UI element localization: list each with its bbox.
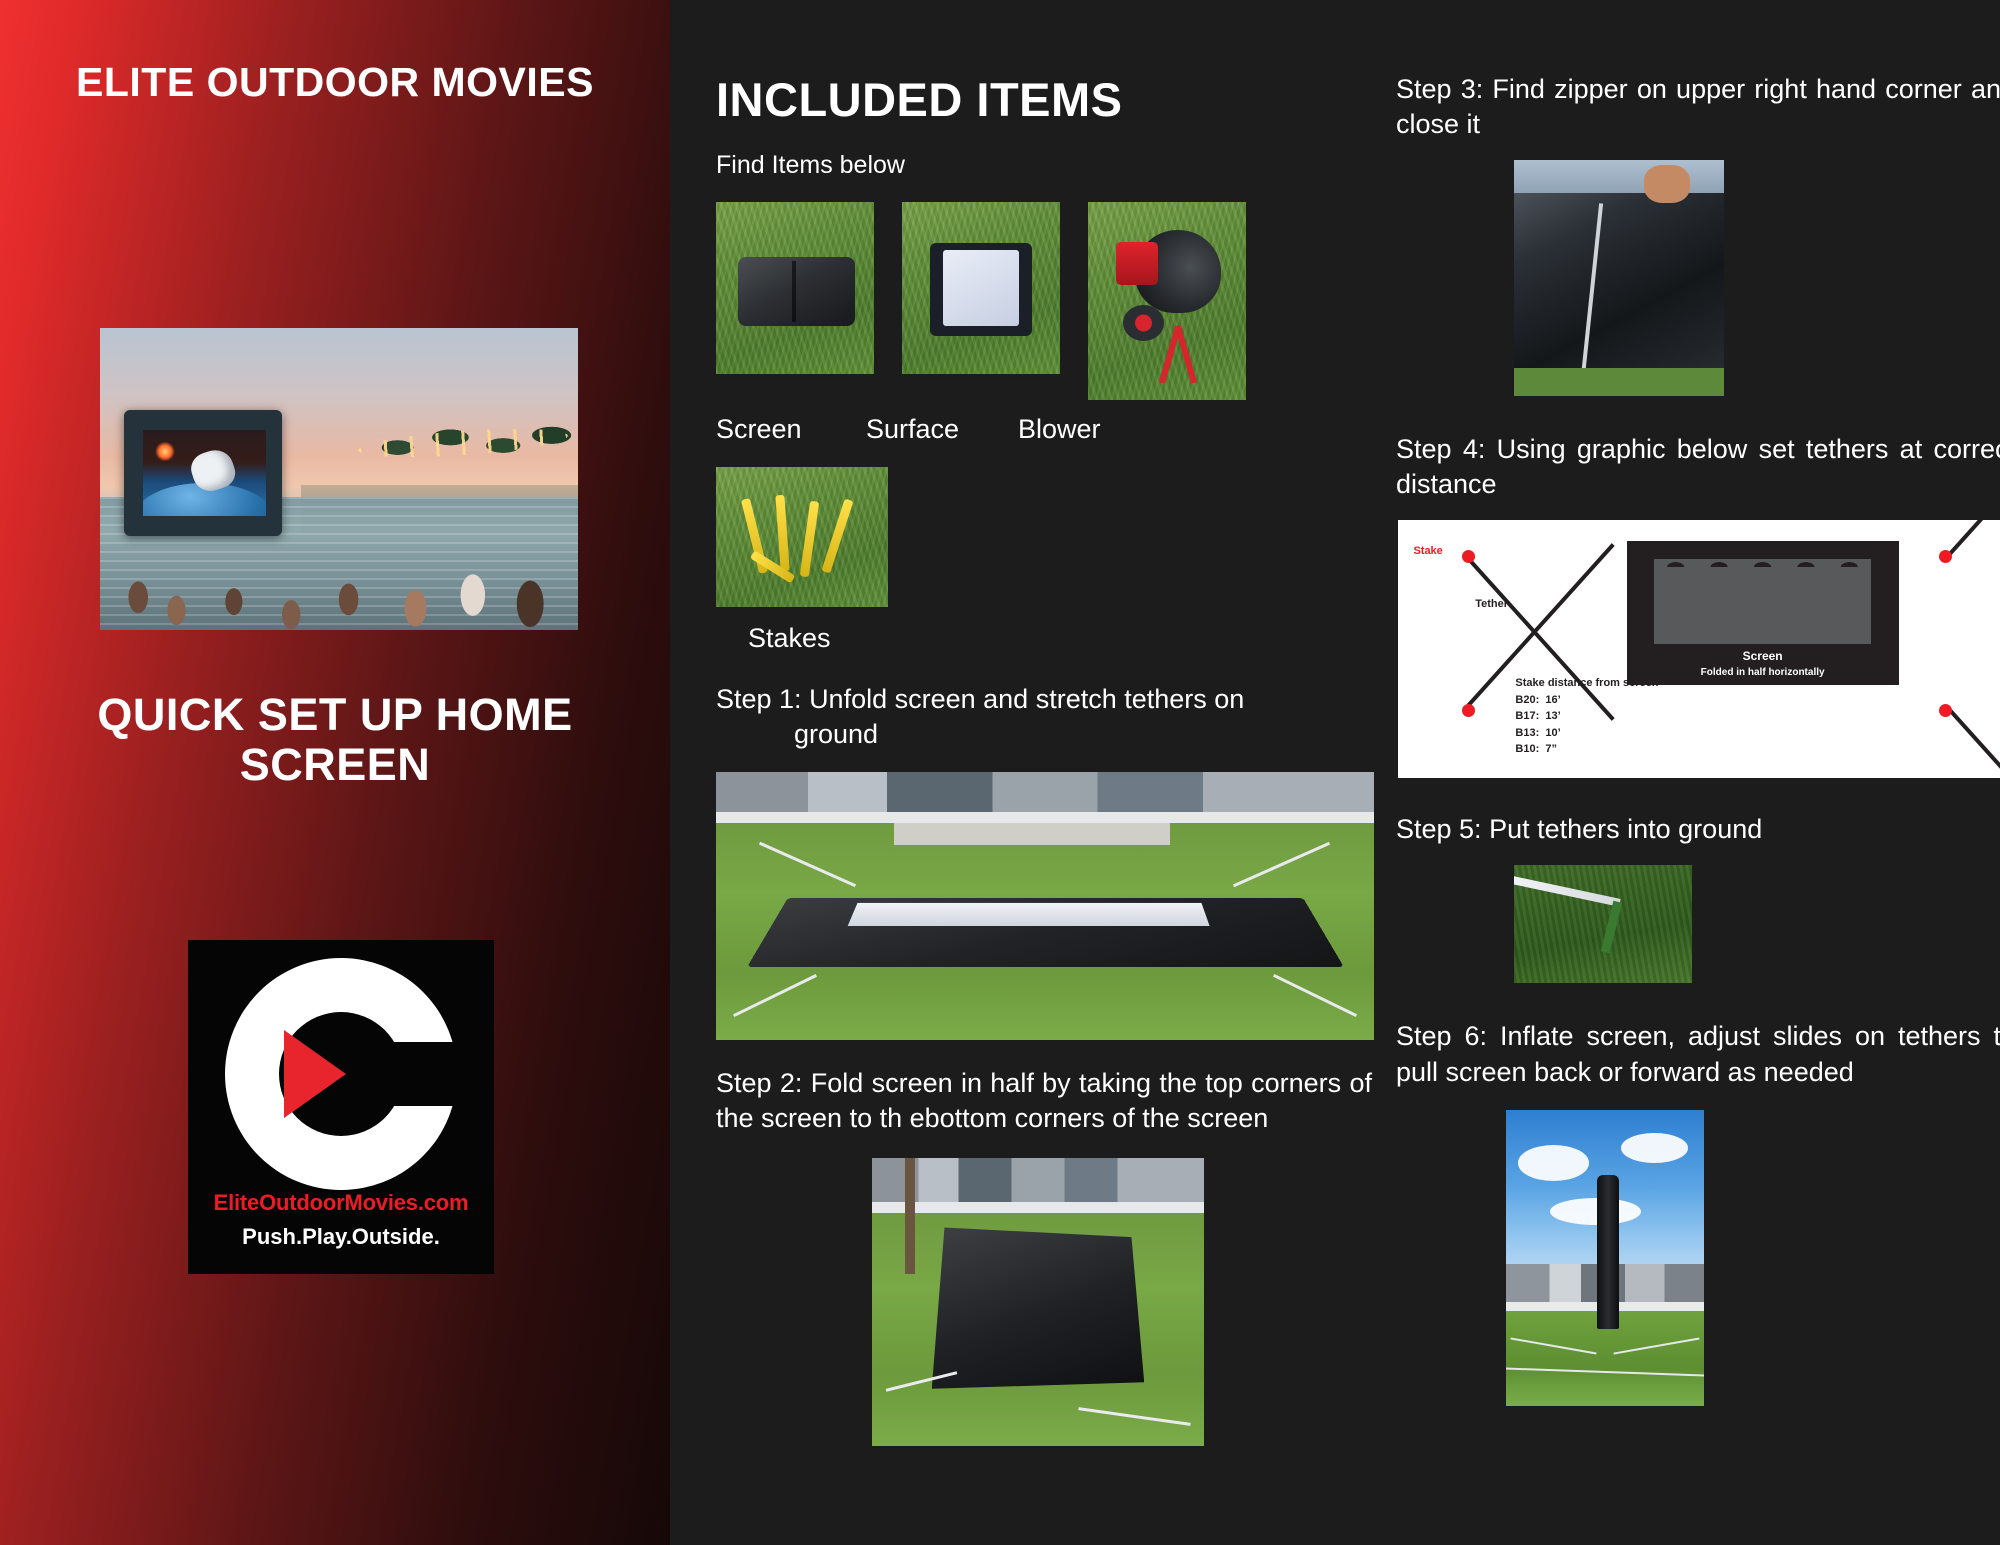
distance-value: 7” (1545, 743, 1557, 755)
brand-title: ELITE OUTDOOR MOVIES (0, 58, 670, 106)
company-logo: EliteOutdoorMovies.com Push.Play.Outside… (188, 940, 494, 1274)
tether-line (1506, 1368, 1704, 1377)
instructions-panel: INCLUDED ITEMS Find Items below (670, 0, 2000, 1545)
logo-tagline: Push.Play.Outside. (188, 1224, 494, 1250)
screen-fabric (1514, 160, 1724, 396)
distance-model: B17: (1515, 710, 1539, 722)
folded-screen (932, 1227, 1144, 1388)
promo-title: QUICK SET UP HOME SCREEN (0, 690, 670, 791)
distance-row: B13: 10’ (1515, 725, 1658, 742)
tree-trunk (905, 1158, 915, 1273)
diagram-screen-sublabel: Folded in half horizontally (1654, 667, 1870, 678)
stake-dot-lower-right (1939, 704, 1952, 717)
distance-model: B13: (1515, 727, 1539, 739)
stake-dot-upper-right (1939, 550, 1952, 563)
step-5-photo (1514, 865, 1692, 983)
distance-model: B20: (1515, 694, 1539, 706)
stake-dot-lower-left (1462, 704, 1475, 717)
distance-value: 10’ (1545, 727, 1560, 739)
distance-row: B10: 7” (1515, 741, 1658, 758)
diagram-stake-label: Stake (1413, 545, 1442, 557)
screen-top-wave (1654, 554, 1870, 567)
hand (1644, 165, 1690, 203)
distance-value: 13’ (1545, 710, 1560, 722)
inflatable-screen-in-photo (124, 410, 282, 537)
tether-line (1613, 1337, 1699, 1354)
logo-notch (335, 1042, 467, 1106)
page-title: INCLUDED ITEMS (716, 72, 1372, 127)
step-1-photo (716, 772, 1374, 1040)
tether-line-lower-right (1947, 707, 2000, 779)
item-labels-row: Screen Surface Blower (716, 414, 1372, 445)
step-3-text: Step 3: Find zipper on upper right hand … (1396, 72, 2000, 142)
tether-lines (1506, 1311, 1704, 1388)
diagram-tether-label: Tether (1475, 598, 1508, 610)
item-label-surface: Surface (866, 414, 1018, 445)
item-photo-screen (716, 202, 874, 374)
inflated-screen (1597, 1175, 1619, 1329)
item-label-stakes: Stakes (748, 623, 1372, 654)
item-photo-stakes (716, 467, 888, 607)
screen-face (1654, 559, 1870, 644)
stake-distance-diagram: Screen Folded in half horizontally Stake… (1398, 520, 2000, 778)
houses-row (716, 772, 1374, 815)
tether-line (1510, 1337, 1596, 1354)
red-stakes (1158, 325, 1199, 384)
step-5-text: Step 5: Put tethers into ground (1396, 812, 2000, 847)
houses-row (872, 1158, 1204, 1204)
white-fence (716, 812, 1374, 823)
diagram-screen-label: Screen (1654, 649, 1870, 663)
grass-background (716, 467, 888, 607)
step-3-photo (1514, 160, 1724, 396)
step-2-text: Step 2: Fold screen in half by taking th… (716, 1066, 1372, 1136)
sun-glow (155, 442, 175, 461)
item-label-blower: Blower (1018, 414, 1101, 445)
distance-row: B17: 13’ (1515, 708, 1658, 725)
item-label-screen: Screen (716, 414, 866, 445)
included-items-thumbnails (716, 202, 1372, 400)
tether-line-upper-right (1947, 520, 2000, 557)
white-projection-area (848, 903, 1210, 926)
white-fence (872, 1202, 1204, 1214)
stake-distance-list: Stake distance from screen B20: 16’ B17:… (1515, 675, 1658, 758)
logo-website-text: EliteOutdoorMovies.com (188, 1190, 494, 1216)
step-6-photo (1506, 1110, 1704, 1406)
cloud (1621, 1133, 1688, 1163)
item-photo-surface (902, 202, 1060, 374)
hero-photo (100, 328, 578, 630)
unfolded-screen (747, 899, 1343, 967)
play-triangle-icon (284, 1030, 346, 1118)
brand-sidebar: ELITE OUTDOOR MOVIES QUICK SET UP HOME S… (0, 0, 670, 1545)
cloud (1550, 1198, 1641, 1225)
distance-model: B10: (1515, 743, 1539, 755)
crowd-in-pool (100, 521, 578, 630)
white-surface-fabric (943, 250, 1019, 326)
projected-image (143, 430, 266, 516)
step-6-text: Step 6: Inflate screen, adjust slides on… (1396, 1019, 2000, 1089)
setup-instruction-sheet: ELITE OUTDOOR MOVIES QUICK SET UP HOME S… (0, 0, 2000, 1545)
concrete-pad (894, 823, 1170, 844)
sky-strip (1514, 160, 1724, 193)
step-1-text-line2: ground (716, 717, 1372, 752)
screen-bag (738, 257, 855, 326)
item-photo-blower (1088, 202, 1246, 400)
step-1-text: Step 1: Unfold screen and stretch tether… (716, 682, 1372, 717)
distance-value: 16’ (1545, 694, 1560, 706)
stake-distance-heading: Stake distance from screen (1515, 675, 1658, 692)
step-1-block: Step 1: Unfold screen and stretch tether… (716, 682, 1372, 752)
page-subtitle: Find Items below (716, 151, 1372, 180)
step-4-text: Step 4: Using graphic below set tethers … (1396, 432, 2000, 502)
step-2-photo (872, 1158, 1204, 1446)
blower-motor (1116, 242, 1157, 286)
middle-column: INCLUDED ITEMS Find Items below (712, 0, 1372, 1446)
stakes-thumbnail-row (716, 467, 1372, 607)
cloud (1518, 1145, 1589, 1181)
right-column: Step 3: Find zipper on upper right hand … (1396, 0, 2000, 1406)
grass-strip (1514, 368, 1724, 396)
distance-row: B20: 16’ (1515, 692, 1658, 709)
